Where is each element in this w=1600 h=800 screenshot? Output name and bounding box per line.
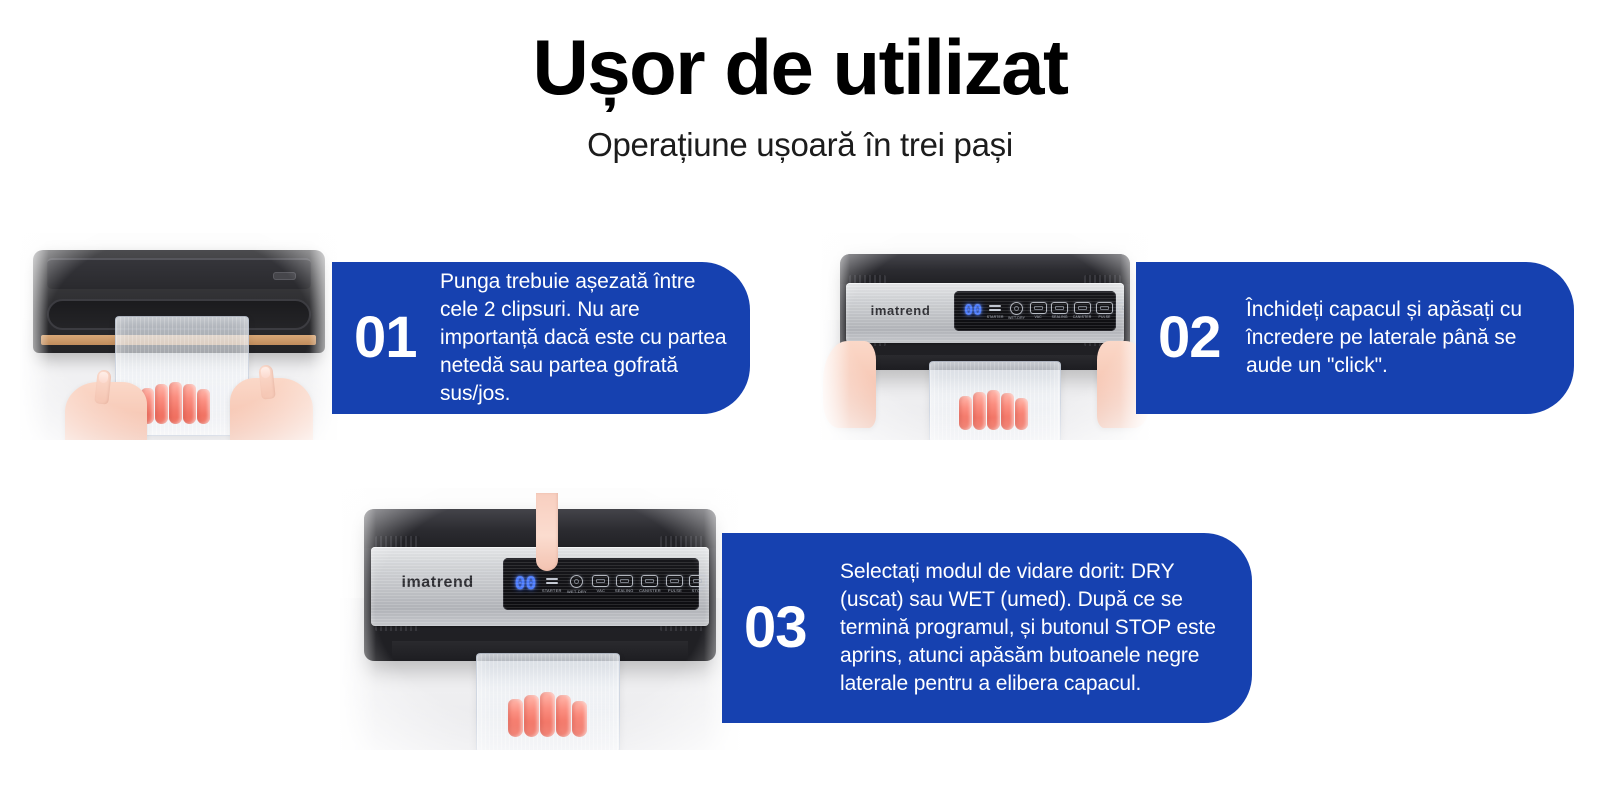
led-display: 00 [964,303,982,318]
button-label: CANISTER [1073,316,1092,319]
button-stop[interactable]: STOP [689,575,706,593]
wet-dry-icon [570,575,583,588]
brand-logo: imatrend [871,303,931,318]
vac-icon [1030,302,1047,314]
meat-slice [508,699,523,737]
step-number-03: 03 [744,599,826,657]
infographic-page: Ușor de utilizat Operațiune ușoară în tr… [0,0,1600,800]
meat-slice [973,392,986,430]
button-label: STARTER [987,316,1004,319]
meat-slice [155,384,168,424]
meat-slices [508,692,587,737]
photo-scene [20,233,338,440]
button-sealing[interactable]: SEALING [1051,302,1068,319]
button-label: PULSE [1096,316,1113,319]
step-number-02: 02 [1158,309,1234,367]
display-value: 00 [964,303,982,318]
button-label: STOP [689,589,706,593]
step-block-03: imatrend 00 STARTER WET-DRY [340,488,1340,758]
pulse-icon [1096,302,1113,314]
vacuum-sealer-closed: imatrend 00 STARTER WET-DRY [840,254,1130,370]
pressing-finger [536,493,558,571]
button-label: SEALING [1051,316,1068,319]
left-hand [823,341,876,428]
button-label: PULSE [666,589,683,593]
button-wet-dry[interactable]: WET-DRY [1008,302,1025,320]
button-label: WET-DRY [567,590,587,594]
sealing-icon [1051,302,1068,314]
page-title: Ușor de utilizat [0,0,1600,106]
button-label: VAC [592,589,609,593]
step-description-02: Închideți capacul și apăsați cu încreder… [1246,296,1556,380]
pulse-icon [666,575,683,587]
meat-slice [959,396,972,430]
meat-slice [197,389,210,424]
page-subtitle: Operațiune ușoară în trei pași [0,106,1600,161]
meat-slice [540,692,555,737]
header: Ușor de utilizat Operațiune ușoară în tr… [0,0,1600,161]
lid-release-button [273,272,296,279]
starter-icon [987,302,1003,314]
step-card-02: 02 Închideți capacul și apăsați cu încre… [1136,262,1574,414]
vac-icon [592,575,609,587]
photo-scene: imatrend 00 STARTER WET-DRY [820,233,1150,440]
fingernail [261,367,271,379]
button-label: VAC [1030,316,1047,319]
step-block-02: imatrend 00 STARTER WET-DRY [820,230,1600,445]
button-canister[interactable]: CANISTER [1073,302,1092,319]
meat-slice [987,390,1000,430]
fingernail [99,371,109,383]
photo-scene: imatrend 00 STARTER WET-DRY [340,488,740,750]
sealing-icon [616,575,633,587]
control-panel: 00 STARTER WET-DRY [503,558,699,610]
step-description-03: Selectați modul de vidare dorit: DRY (us… [840,558,1234,698]
button-label: CANISTER [639,589,661,593]
led-display: 00 [515,575,537,593]
button-label: WET-DRY [1008,317,1025,320]
meat-slices [959,390,1028,430]
button-starter[interactable]: STARTER [987,302,1004,319]
step-card-03: 03 Selectați modul de vidare dorit: DRY … [722,533,1252,723]
canister-icon [641,575,658,587]
button-canister[interactable]: CANISTER [639,575,661,593]
step-number-01: 01 [354,309,426,367]
meat-slices [141,382,210,424]
button-stop[interactable]: STOP [1118,302,1125,319]
button-label: STARTER [542,589,562,593]
button-label: STOP [1118,316,1125,319]
button-starter[interactable]: STARTER [542,575,562,593]
step-photo-03: imatrend 00 STARTER WET-DRY [340,488,740,750]
starter-icon [544,575,560,587]
stop-icon [1118,302,1125,314]
meat-slice [572,701,587,737]
meat-slice [556,695,571,737]
control-panel: 00 STARTER WET-DRY [954,291,1116,331]
meat-slice [1015,398,1028,430]
step-photo-01 [20,233,338,440]
wet-dry-icon [1010,302,1023,315]
step-photo-02: imatrend 00 STARTER WET-DRY [820,233,1150,440]
button-vac[interactable]: VAC [592,575,609,593]
button-pulse[interactable]: PULSE [1096,302,1113,319]
brand-logo: imatrend [401,574,473,592]
step-description-01: Punga trebuie așezată între cele 2 clips… [440,268,732,408]
step-card-01: 01 Punga trebuie așezată între cele 2 cl… [332,262,750,414]
step-block-01: 01 Punga trebuie așezată între cele 2 cl… [0,230,760,445]
meat-slice [1001,393,1014,430]
steel-front-panel: imatrend 00 STARTER WET-DRY [846,283,1125,343]
stop-icon [689,575,706,587]
sealer-lid [47,258,310,289]
meat-slice [183,384,196,424]
button-label: SEALING [615,589,634,593]
button-sealing[interactable]: SEALING [615,575,634,593]
button-pulse[interactable]: PULSE [666,575,683,593]
button-wet-dry[interactable]: WET-DRY [567,575,587,594]
display-value: 00 [515,575,537,593]
canister-icon [1074,302,1091,314]
meat-slice [524,695,539,737]
meat-slice [169,382,182,424]
button-vac[interactable]: VAC [1030,302,1047,319]
